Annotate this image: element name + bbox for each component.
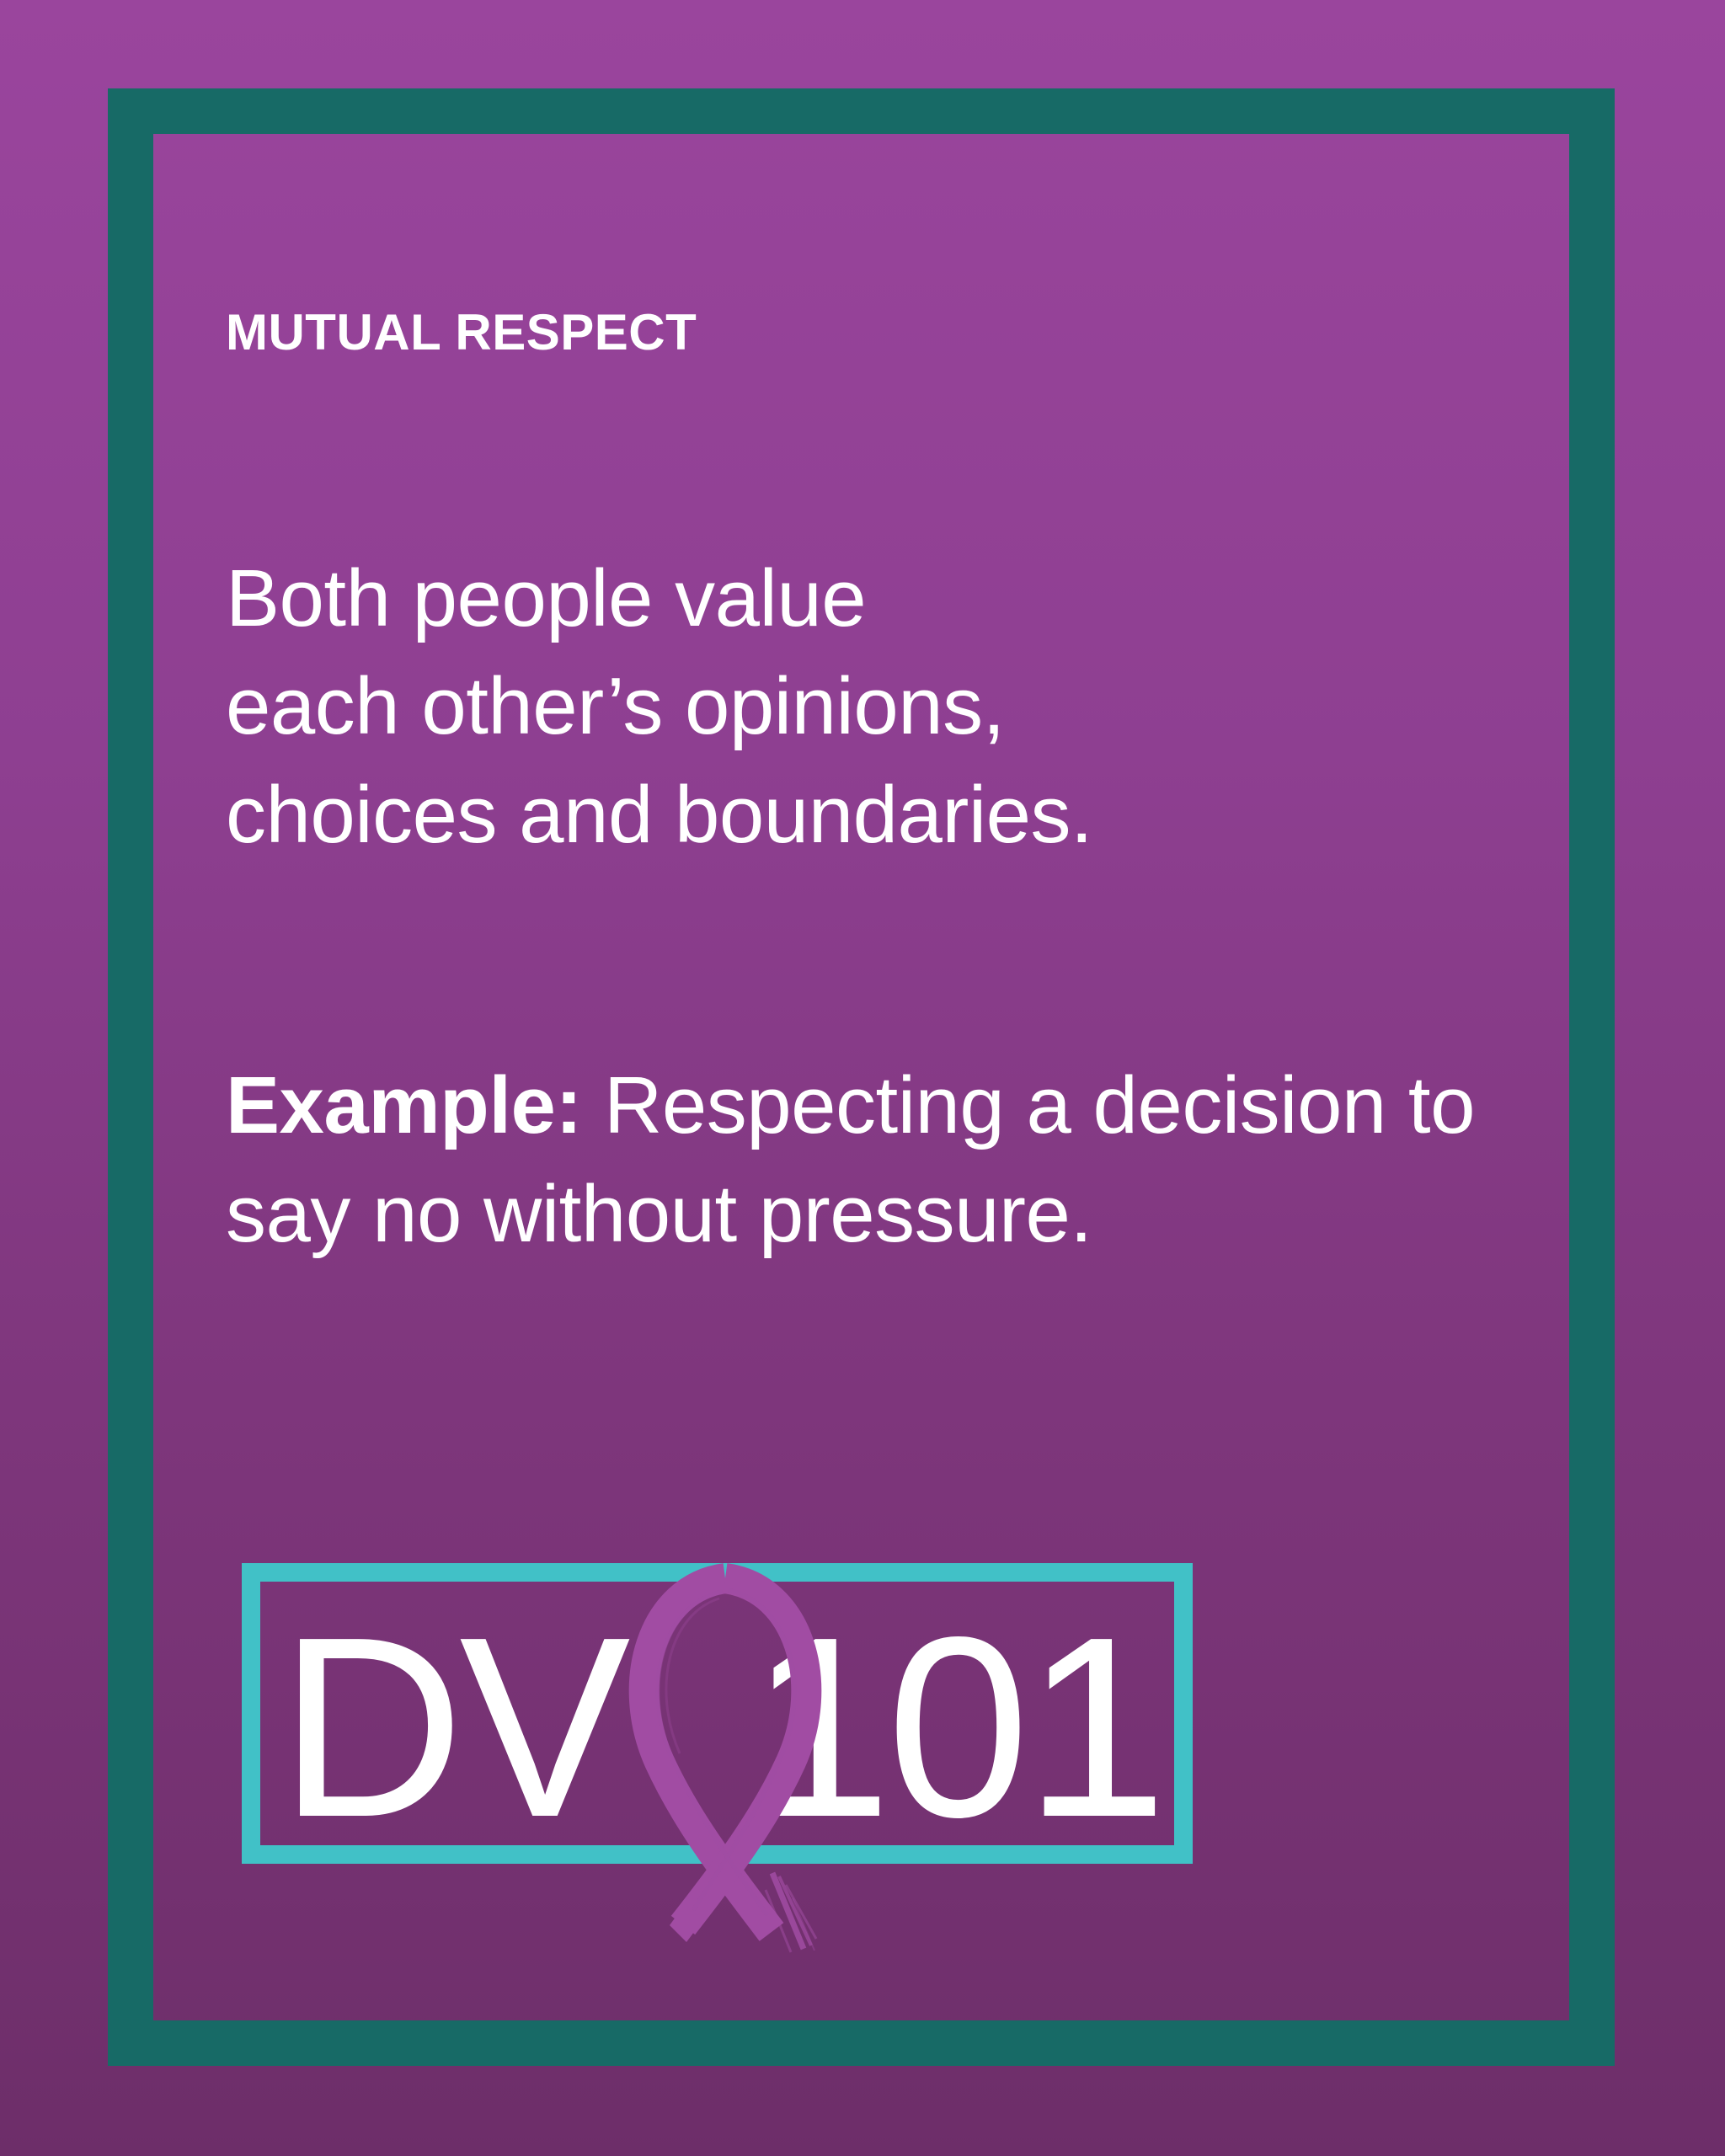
logo-text-101: 101	[749, 1598, 1162, 1855]
page-title: MUTUAL RESPECT	[226, 168, 1523, 360]
definition-text: Both people value each other’s opinions,…	[226, 553, 1092, 860]
example-paragraph: Example: Respecting a decision to say no…	[226, 870, 1523, 1269]
poster-card: MUTUAL RESPECT Both people value each ot…	[0, 0, 1725, 2156]
dv101-logo: DV 101	[242, 1563, 1193, 1864]
definition-paragraph: Both people value each other’s opinions,…	[226, 360, 1523, 870]
example-label: Example:	[226, 1060, 582, 1150]
logo-text-dv: DV	[279, 1598, 626, 1855]
